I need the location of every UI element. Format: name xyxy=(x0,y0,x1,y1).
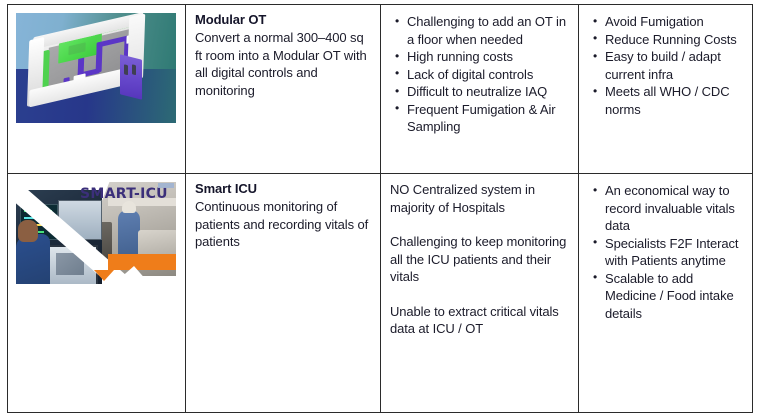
ot-door-window xyxy=(124,64,128,75)
problem-paragraph: Unable to extract critical vitals data a… xyxy=(390,303,569,338)
comparison-table: Modular OT Convert a normal 300–400 sq f… xyxy=(7,4,753,413)
list-item: Lack of digital controls xyxy=(407,66,569,84)
title-wrapper: Smart ICU Continuous monitoring of patie… xyxy=(186,174,380,412)
list-item: Avoid Fumigation xyxy=(605,13,743,31)
slide-canvas: Modular OT Convert a normal 300–400 sq f… xyxy=(0,0,759,420)
list-item: Reduce Running Costs xyxy=(605,31,743,49)
icu-orange-band xyxy=(108,254,176,270)
image-wrapper xyxy=(8,5,185,173)
list-item: Scalable to add Medicine / Food intake d… xyxy=(605,270,743,323)
problems-list: Challenging to add an OT in a floor when… xyxy=(390,13,569,136)
row-benefits-cell: An economical way to record invaluable v… xyxy=(579,174,753,413)
icu-logo xyxy=(158,183,174,188)
benefits-list: Avoid Fumigation Reduce Running Costs Ea… xyxy=(588,13,743,118)
smart-icu-image: SMART-ICU xyxy=(16,182,176,284)
problems-wrapper: Challenging to add an OT in a floor when… xyxy=(381,5,578,173)
row-benefits-cell: Avoid Fumigation Reduce Running Costs Ea… xyxy=(579,5,753,174)
benefits-list: An economical way to record invaluable v… xyxy=(588,182,743,322)
row-problems-cell: NO Centralized system in majority of Hos… xyxy=(381,174,579,413)
list-item: Frequent Fumigation & Air Sampling xyxy=(407,101,569,136)
table-row: Modular OT Convert a normal 300–400 sq f… xyxy=(8,5,753,174)
icu-caption: SMART-ICU xyxy=(80,186,168,202)
list-item: Easy to build / adapt current infra xyxy=(605,48,743,83)
ot-door-window xyxy=(132,64,136,75)
benefits-wrapper: Avoid Fumigation Reduce Running Costs Ea… xyxy=(579,5,752,173)
icu-orange-arrow xyxy=(94,270,114,281)
row-image-cell: SMART-ICU xyxy=(8,174,186,413)
list-item: Specialists F2F Interact with Patients a… xyxy=(605,235,743,270)
title-wrapper: Modular OT Convert a normal 300–400 sq f… xyxy=(186,5,380,173)
ot-door xyxy=(120,54,142,99)
benefits-wrapper: An economical way to record invaluable v… xyxy=(579,174,752,412)
item-title: Modular OT xyxy=(195,12,371,28)
image-wrapper: SMART-ICU xyxy=(8,174,185,412)
icu-operator-head xyxy=(18,220,38,242)
problem-paragraph: NO Centralized system in majority of Hos… xyxy=(390,181,569,216)
row-image-cell xyxy=(8,5,186,174)
list-item: An economical way to record invaluable v… xyxy=(605,182,743,235)
item-title: Smart ICU xyxy=(195,181,371,197)
ot-pipe xyxy=(96,41,103,73)
row-problems-cell: Challenging to add an OT in a floor when… xyxy=(381,5,579,174)
list-item: High running costs xyxy=(407,48,569,66)
problem-paragraph: Challenging to keep monitoring all the I… xyxy=(390,233,569,286)
row-title-cell: Smart ICU Continuous monitoring of patie… xyxy=(186,174,381,413)
item-description: Continuous monitoring of patients and re… xyxy=(195,198,371,251)
list-item: Meets all WHO / CDC norms xyxy=(605,83,743,118)
list-item: Difficult to neutralize IAQ xyxy=(407,83,569,101)
problems-wrapper: NO Centralized system in majority of Hos… xyxy=(381,174,578,412)
row-title-cell: Modular OT Convert a normal 300–400 sq f… xyxy=(186,5,381,174)
table-row: SMART-ICU Smart ICU Continuous monitorin… xyxy=(8,174,753,413)
list-item: Challenging to add an OT in a floor when… xyxy=(407,13,569,48)
modular-ot-image xyxy=(16,13,176,123)
item-description: Convert a normal 300–400 sq ft room into… xyxy=(195,29,371,99)
